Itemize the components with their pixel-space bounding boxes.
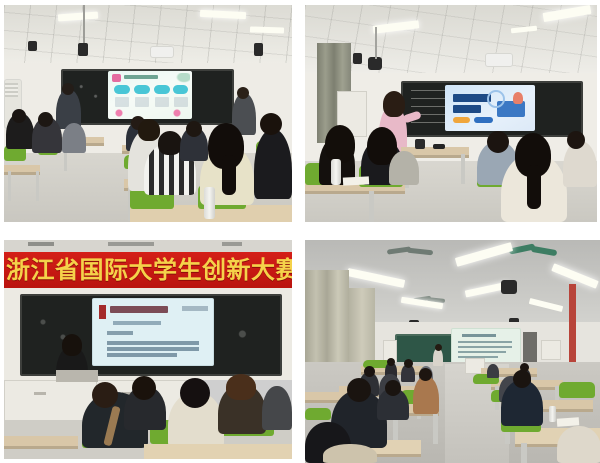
desk [4,436,78,449]
desk-bottle [549,406,556,422]
desk-leg [36,171,39,201]
photo-collage: 浙江省国际大学生创新大赛（2024）优秀项目训练营（第二期 [0,0,600,463]
ceiling-rail [108,242,154,246]
event-banner-text: 浙江省国际大学生创新大赛（2024）优秀项目训练营（第二期 [4,252,292,290]
ceiling-speaker-icon [28,41,37,51]
water-bottle [204,187,215,219]
slide-title-line1 [453,94,491,102]
student-head-long-hair [325,125,355,163]
presenter-head [62,334,82,356]
chair [305,408,331,420]
ponytail [222,155,236,195]
student-head [38,112,53,127]
student-head [419,368,432,381]
slide-illustration-circle [487,90,505,108]
slide-heading [124,75,158,79]
ceiling-rail [222,242,242,246]
presenter-head [62,83,74,95]
slide-leaf-decoration-icon [170,73,190,87]
photo-bottom-right[interactable] [305,240,600,463]
seated-student [62,123,86,153]
presenter-head [435,344,442,351]
seated-student-scarf [389,151,419,185]
slide-title [462,334,496,337]
ceiling-rail [28,242,54,246]
photo-top-left[interactable] [4,5,292,222]
slide-paragraph [107,347,199,351]
desk-front [144,444,292,459]
ceiling-grid [4,5,292,67]
student-head [138,119,160,141]
desk-leg [461,154,465,184]
student-head [158,131,182,155]
desk-paper [557,417,580,427]
slide-illustration-person [513,92,523,104]
photo-top-right[interactable] [305,5,597,222]
student-head [404,359,413,368]
ceiling-light [250,26,284,33]
slide-title [110,306,168,313]
slide-logo [112,74,121,82]
desk-object-speaker [415,139,425,149]
fan-blade [531,246,558,256]
student-head [12,109,26,123]
slide-title-line2 [453,105,481,113]
slide-bubble [154,85,170,94]
ac-vent-lines [5,83,18,97]
cabinet-handle [34,392,46,395]
seated-student-dark [254,129,292,199]
desk-leg [521,443,527,463]
desk-leg [433,412,438,444]
slide-body-text [115,97,129,107]
slide-line [458,341,512,343]
slide-accent-bar [99,305,106,319]
wall-notice [541,340,561,360]
desk-leg [369,191,374,222]
ceiling-speaker-icon [353,53,362,64]
student-head [180,378,210,408]
slide-flower-decoration-icon [114,109,124,117]
slide-badge-orange [453,117,470,123]
slide-flower-decoration-icon [172,109,182,117]
slide-paragraph [107,341,199,345]
presenter-head [383,91,405,117]
student-head [513,370,531,388]
slide-body-text [135,97,149,107]
slide-logo [182,306,208,311]
smart-display-screen[interactable] [108,71,192,119]
student-head [186,121,202,137]
ceiling-fan [387,244,433,258]
projector-rod [375,27,377,59]
seated-student-bottom-right [557,426,600,463]
smart-display-screen[interactable] [445,85,535,131]
projector-mount-icon [501,280,517,294]
water-bottle [331,159,341,185]
slide-body-text [155,97,169,107]
seated-student-cream-bottom [323,444,377,463]
slide-bubble [134,85,150,94]
standing-person-head [237,87,249,99]
student-head-braided [226,374,256,400]
event-banner: 浙江省国际大学生创新大赛（2024）优秀项目训练营（第二期 [4,252,292,290]
ponytail [527,165,541,209]
ceiling-fan [509,242,557,258]
desk-book [343,176,369,185]
student-head [92,382,118,408]
slide-subtitle [113,321,161,325]
student-head [567,131,585,149]
photo-bottom-left[interactable]: 浙江省国际大学生创新大赛（2024）优秀项目训练营（第二期 [4,240,292,459]
slide-line [458,351,506,353]
chalk-marks [224,314,270,354]
student-head [132,376,156,400]
student-head [364,366,375,377]
slide-bubble [114,85,130,94]
student-head [487,131,509,153]
podium-panel [56,370,98,382]
slide-paragraph [107,353,177,357]
wall-ac-unit [485,53,513,67]
student-head [347,378,371,402]
projector-rod [83,5,85,43]
fan-blade [407,248,433,256]
ceiling-speaker-icon [78,43,88,56]
student-head [260,113,282,135]
projected-slide[interactable] [92,298,214,366]
slide-body-text [174,97,188,107]
student-head [387,358,395,366]
seated-student-orange [413,376,439,414]
chair [559,382,595,398]
student-head [385,380,401,396]
ceiling-speaker-icon [254,43,263,56]
seated-student [262,386,292,430]
slide-badge-blue [474,117,493,123]
seated-student [487,364,499,378]
wall-ac-unit [150,46,174,58]
desk-leg [8,171,11,201]
desk-object-dark [433,144,445,149]
slide-line [458,346,512,348]
slide-line [107,331,133,335]
